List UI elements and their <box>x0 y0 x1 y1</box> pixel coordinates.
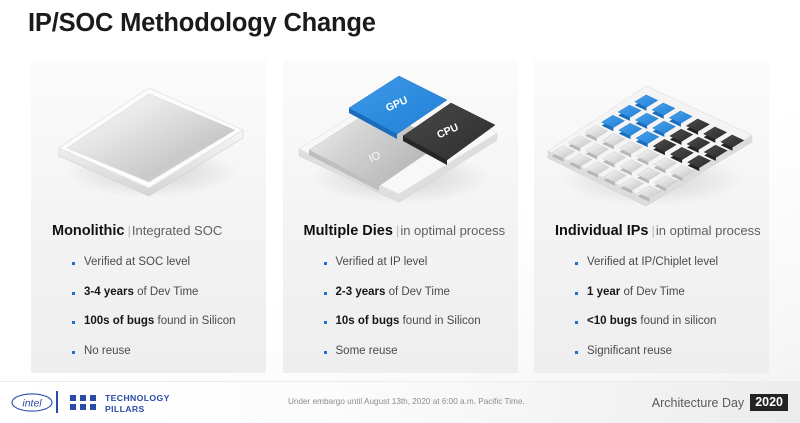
bullet-text: <10 bugs found in silicon <box>587 315 716 328</box>
list-item: 3-4 years of Dev Time <box>72 286 267 299</box>
bullet-dot-icon <box>324 262 327 265</box>
bullet-dot-icon <box>575 321 578 324</box>
event-label: Architecture Day <box>652 396 744 410</box>
bullet-text: 3-4 years of Dev Time <box>84 286 198 299</box>
panel-individual-ips[interactable]: Individual IPs|in optimal process Verifi… <box>534 60 769 373</box>
heading-separator: | <box>396 223 399 238</box>
panel-multiple-dies[interactable]: IO GPU CPU Multiple Dies|in optimal proc… <box>283 60 518 373</box>
bullet-dot-icon <box>575 292 578 295</box>
panel-monolithic[interactable]: Monolithic|Integrated SOC Verified at SO… <box>31 60 266 373</box>
bullet-rest: of Dev Time <box>385 286 450 298</box>
bullet-bold: 2-3 years <box>336 286 386 298</box>
heading-main: Multiple Dies <box>304 223 393 239</box>
heading-main: Monolithic <box>52 223 125 239</box>
list-item: 1 year of Dev Time <box>575 286 770 299</box>
heading-separator: | <box>128 223 131 238</box>
svg-text:intel: intel <box>22 397 42 409</box>
bullet-rest: Some reuse <box>336 345 398 357</box>
list-item: Verified at IP/Chiplet level <box>575 256 770 269</box>
list-item: 10s of bugs found in Silicon <box>324 315 519 328</box>
bullet-rest: found in silicon <box>637 315 716 327</box>
technology-pillars-icon <box>70 395 96 410</box>
bullet-text: No reuse <box>84 345 131 358</box>
event-year: 2020 <box>750 394 788 411</box>
bullet-text: 2-3 years of Dev Time <box>336 286 450 299</box>
heading-sub: in optimal process <box>400 223 505 238</box>
heading-sub: in optimal process <box>656 223 761 238</box>
bullet-text: Verified at SOC level <box>84 256 190 269</box>
bullet-bold: 1 year <box>587 286 620 298</box>
bullet-rest: Verified at IP/Chiplet level <box>587 256 718 268</box>
bullet-text: 100s of bugs found in Silicon <box>84 315 236 328</box>
bullet-dot-icon <box>324 321 327 324</box>
bullet-dot-icon <box>72 292 75 295</box>
bullet-list-monolithic: Verified at SOC level 3-4 years of Dev T… <box>72 256 267 375</box>
bullet-dot-icon <box>72 351 75 354</box>
technology-pillars-label: TECHNOLOGY PILLARS <box>105 393 170 414</box>
heading-separator: | <box>651 223 654 238</box>
bullet-text: Verified at IP level <box>336 256 428 269</box>
bullet-rest: Verified at IP level <box>336 256 428 268</box>
bullet-dot-icon <box>575 351 578 354</box>
individual-ips-graphic <box>534 60 769 215</box>
bullet-rest: of Dev Time <box>134 286 199 298</box>
list-item: No reuse <box>72 345 267 358</box>
list-item: <10 bugs found in silicon <box>575 315 770 328</box>
bullet-bold: 100s of bugs <box>84 315 154 327</box>
footer-bar: intel TECHNOLOGY PILLARS Under embargo u… <box>0 381 800 423</box>
bullet-rest: Verified at SOC level <box>84 256 190 268</box>
bullet-text: 10s of bugs found in Silicon <box>336 315 481 328</box>
bullet-rest: found in Silicon <box>154 315 235 327</box>
list-item: 100s of bugs found in Silicon <box>72 315 267 328</box>
bullet-list-multiple-dies: Verified at IP level 2-3 years of Dev Ti… <box>324 256 519 375</box>
panel-heading-monolithic: Monolithic|Integrated SOC <box>52 223 222 239</box>
bullet-dot-icon <box>575 262 578 265</box>
monolithic-die-graphic <box>31 60 266 215</box>
list-item: Verified at IP level <box>324 256 519 269</box>
bullet-rest: Significant reuse <box>587 345 672 357</box>
panel-heading-multiple-dies: Multiple Dies|in optimal process <box>304 223 506 239</box>
intel-logo-icon: intel <box>11 393 53 417</box>
bullet-bold: 10s of bugs <box>336 315 400 327</box>
bullet-bold: 3-4 years <box>84 286 134 298</box>
list-item: Verified at SOC level <box>72 256 267 269</box>
pillars-line-2: PILLARS <box>105 404 170 415</box>
footer-divider <box>56 391 58 413</box>
pillars-line-1: TECHNOLOGY <box>105 393 170 404</box>
embargo-notice: Under embargo until August 13th, 2020 at… <box>288 397 525 406</box>
bullet-text: Significant reuse <box>587 345 672 358</box>
bullet-rest: of Dev Time <box>620 286 685 298</box>
list-item: 2-3 years of Dev Time <box>324 286 519 299</box>
panel-heading-individual-ips: Individual IPs|in optimal process <box>555 223 761 239</box>
bullet-text: Verified at IP/Chiplet level <box>587 256 718 269</box>
list-item: Some reuse <box>324 345 519 358</box>
bullet-dot-icon <box>324 292 327 295</box>
bullet-text: Some reuse <box>336 345 398 358</box>
page-title: IP/SOC Methodology Change <box>28 9 376 38</box>
bullet-dot-icon <box>324 351 327 354</box>
bullet-dot-icon <box>72 321 75 324</box>
list-item: Significant reuse <box>575 345 770 358</box>
heading-main: Individual IPs <box>555 223 648 239</box>
panel-row: Monolithic|Integrated SOC Verified at SO… <box>31 60 769 373</box>
bullet-rest: No reuse <box>84 345 131 357</box>
multiple-dies-graphic: IO GPU CPU <box>283 60 518 215</box>
bullet-list-individual-ips: Verified at IP/Chiplet level 1 year of D… <box>575 256 770 375</box>
bullet-rest: found in Silicon <box>399 315 480 327</box>
bullet-dot-icon <box>72 262 75 265</box>
bullet-bold: <10 bugs <box>587 315 637 327</box>
bullet-text: 1 year of Dev Time <box>587 286 685 299</box>
architecture-day-badge: Architecture Day 2020 <box>652 394 788 411</box>
heading-sub: Integrated SOC <box>132 223 222 238</box>
slide-root: IP/SOC Methodology Change <box>0 0 800 423</box>
